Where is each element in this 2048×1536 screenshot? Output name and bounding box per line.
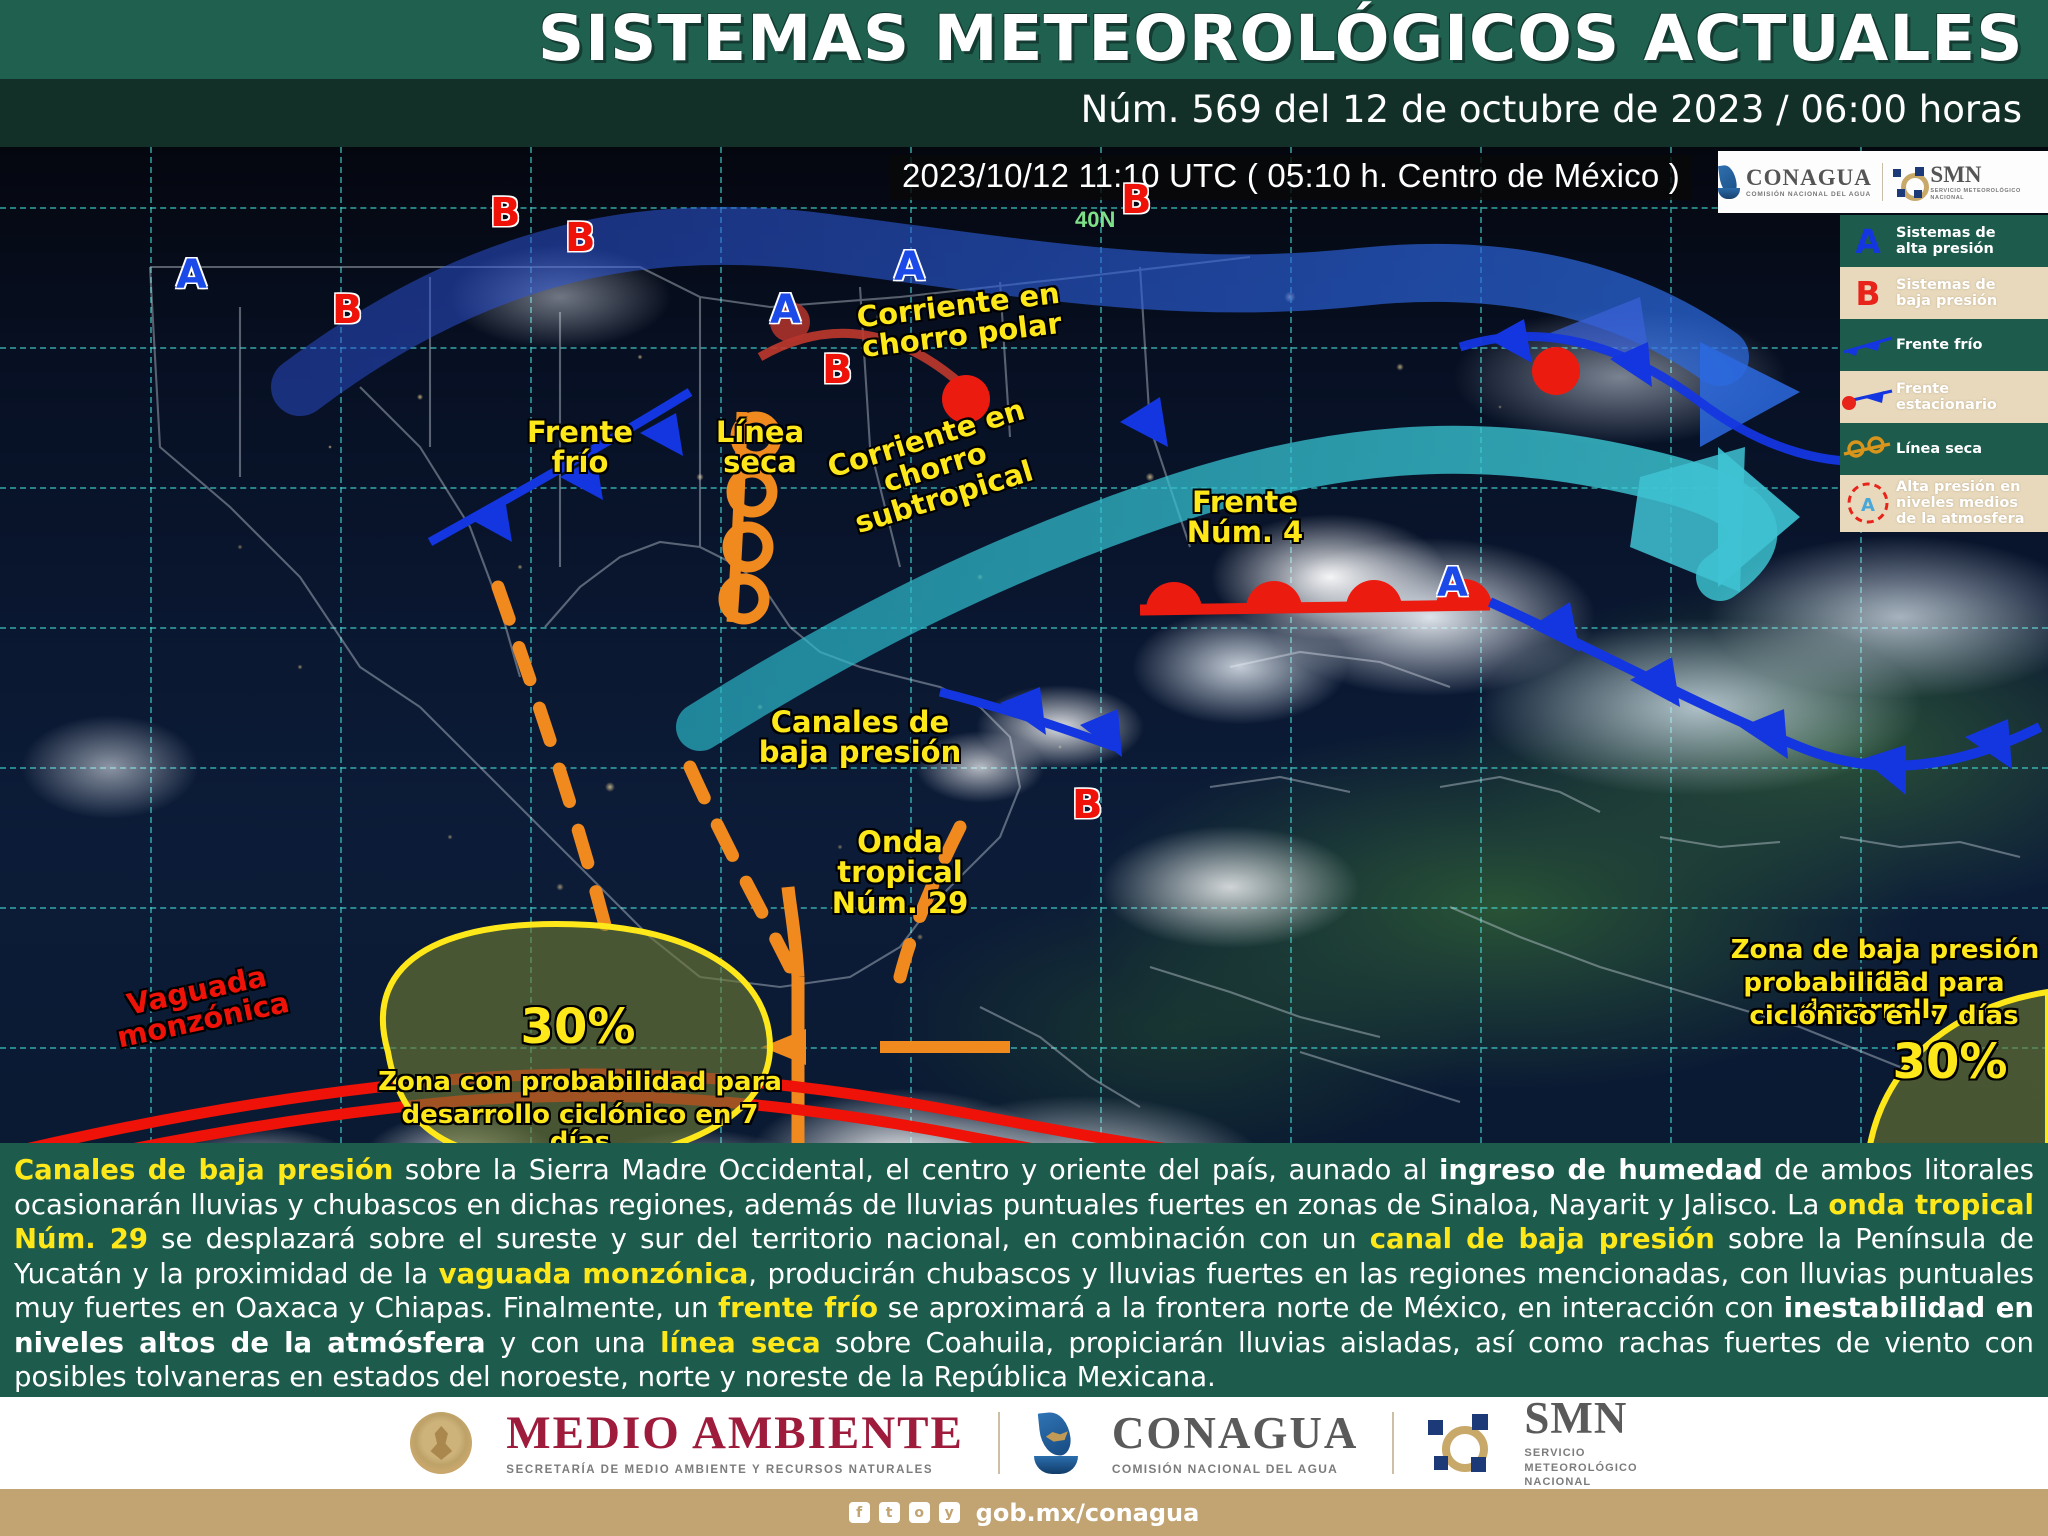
annotation-tropical-wave: OndatropicalNúm. 29 [820, 827, 980, 918]
legend-label-stationary-front: Frenteestacionario [1896, 381, 2003, 413]
bulletin-highlight: vaguada monzónica [439, 1258, 749, 1290]
bulletin-text: sobre la Sierra Madre Occidental, el cen… [393, 1154, 1439, 1186]
conagua-drop-icon [1034, 1410, 1078, 1476]
footer-divider [998, 1412, 1000, 1474]
low-pressure-marker: B [1072, 782, 1103, 828]
legend-item-mid-level-high: A Alta presión enniveles mediosde la atm… [1840, 475, 2048, 532]
footer-conagua-subtext: COMISIÓN NACIONAL DEL AGUA [1112, 1462, 1359, 1476]
pacific-zone-line2: desarrollo ciclónico en 7 días [370, 1102, 790, 1143]
cold-front-symbol-icon [1840, 332, 1896, 358]
pacific-zone-percent: 30% [488, 1002, 668, 1052]
legend-item-stationary-front: Frenteestacionario [1840, 371, 2048, 423]
pacific-zone-line1: Zona con probabilidad para [370, 1069, 790, 1096]
annotation-cold-front: Frentefrío [505, 417, 655, 478]
map-logo-bar: CONAGUA COMISIÓN NACIONAL DEL AGUA SMN S… [1718, 151, 2048, 213]
conagua-logo-text: CONAGUA [1746, 166, 1872, 189]
legend-item-low-pressure: B Sistemas debaja presión [1840, 267, 2048, 319]
bulletin-highlight: línea seca [660, 1327, 821, 1359]
graticule-label-40n: 40N [1075, 207, 1115, 233]
high-pressure-marker: A [894, 244, 925, 290]
smn-logo-subtext: SERVICIO METEOROLÓGICO NACIONAL [1930, 188, 2048, 202]
legend-label-mid-level-high: Alta presión enniveles mediosde la atmos… [1896, 479, 2031, 528]
dry-line-symbol-icon [1840, 436, 1896, 462]
letter-a-blue-icon: A [1840, 225, 1896, 258]
footer-logo-bar: MEDIO AMBIENTE SECRETARÍA DE MEDIO AMBIE… [0, 1397, 2048, 1489]
bulletin-text: y con una [486, 1327, 661, 1359]
bulletin-highlight: canal de baja presión [1370, 1223, 1715, 1255]
low-pressure-marker: B [332, 287, 363, 333]
legend-item-dry-line: Línea seca [1840, 423, 2048, 475]
mid-level-high-symbol-icon: A [1840, 480, 1896, 526]
medio-ambiente-logo-text: MEDIO AMBIENTE [506, 1410, 964, 1457]
instagram-icon[interactable]: o [909, 1502, 930, 1523]
legend-label-high-pressure: Sistemas dealta presión [1896, 225, 2002, 257]
smn-spiral-icon [1893, 165, 1925, 199]
high-pressure-marker: A [1437, 560, 1468, 606]
bulletin-highlight: frente frío [718, 1292, 878, 1324]
stationary-front-symbol-icon [1840, 384, 1896, 410]
social-bar: f t o y gob.mx/conagua [0, 1489, 2048, 1536]
legend-label-low-pressure: Sistemas debaja presión [1896, 277, 2003, 309]
twitter-icon[interactable]: t [879, 1502, 900, 1523]
page-title: SISTEMAS METEOROLÓGICOS ACTUALES [538, 2, 2024, 75]
letter-b-red-icon: B [1840, 277, 1896, 310]
weather-bulletin-page: SISTEMAS METEOROLÓGICOS ACTUALES Núm. 56… [0, 0, 2048, 1536]
legend-item-high-pressure: A Sistemas dealta presión [1840, 215, 2048, 267]
atlantic-zone-percent: 30% [1870, 1037, 2030, 1087]
low-pressure-marker: B [490, 190, 521, 236]
smn-logo-text: SMN [1930, 163, 2048, 186]
logo-divider [1882, 163, 1883, 201]
youtube-icon[interactable]: y [939, 1502, 960, 1523]
bulletin-text-panel: Canales de baja presión sobre la Sierra … [0, 1143, 2048, 1397]
satellite-timestamp: 2023/10/12 11:10 UTC ( 05:10 h. Centro d… [890, 155, 1692, 200]
low-pressure-marker: B [565, 215, 596, 261]
satellite-map[interactable]: 2023/10/12 11:10 UTC ( 05:10 h. Centro d… [0, 147, 2048, 1143]
bulletin-number-date: Núm. 569 del 12 de octubre de 2023 / 06:… [1081, 88, 2022, 131]
legend-panel: A Sistemas dealta presión B Sistemas deb… [1840, 215, 2048, 532]
medio-ambiente-logo-subtext: SECRETARÍA DE MEDIO AMBIENTE Y RECURSOS … [506, 1464, 964, 1476]
footer-smn-subtext: SERVICIOMETEOROLÓGICONACIONAL [1524, 1446, 1637, 1491]
high-pressure-marker: A [176, 252, 207, 298]
annotation-low-pressure-channels: Canales debaja presión [755, 707, 965, 768]
mexico-coat-of-arms-icon [410, 1412, 472, 1474]
svg-text:A: A [1861, 495, 1875, 516]
annotation-dry-line: Líneaseca [700, 417, 820, 478]
bulletin-highlight: Canales de baja presión [14, 1154, 393, 1186]
footer-divider [1392, 1412, 1394, 1474]
bulletin-text: se aproximará a la frontera norte de Méx… [878, 1292, 1784, 1324]
footer-smn-text: SMN [1524, 1396, 1637, 1441]
bulletin-bold: ingreso de humedad [1439, 1154, 1763, 1186]
legend-label-cold-front: Frente frío [1896, 337, 1989, 353]
footer-conagua-text: CONAGUA [1112, 1411, 1359, 1456]
bulletin-text: se desplazará sobre el sureste y sur del… [148, 1223, 1370, 1255]
high-pressure-marker: A [770, 287, 801, 333]
legend-label-dry-line: Línea seca [1896, 441, 1988, 457]
website-url[interactable]: gob.mx/conagua [976, 1499, 1200, 1527]
legend-item-cold-front: Frente frío [1840, 319, 2048, 371]
conagua-logo-subtext: COMISIÓN NACIONAL DEL AGUA [1746, 191, 1872, 198]
facebook-icon[interactable]: f [849, 1502, 870, 1523]
annotation-front-number: FrenteNúm. 4 [1165, 487, 1325, 548]
bulletin-paragraph: Canales de baja presión sobre la Sierra … [14, 1153, 2034, 1395]
atlantic-zone-line3: ciclónico en 7 días [1720, 1003, 2048, 1030]
smn-spiral-icon [1428, 1412, 1490, 1474]
low-pressure-marker: B [1121, 177, 1152, 223]
conagua-drop-icon [1718, 165, 1740, 199]
